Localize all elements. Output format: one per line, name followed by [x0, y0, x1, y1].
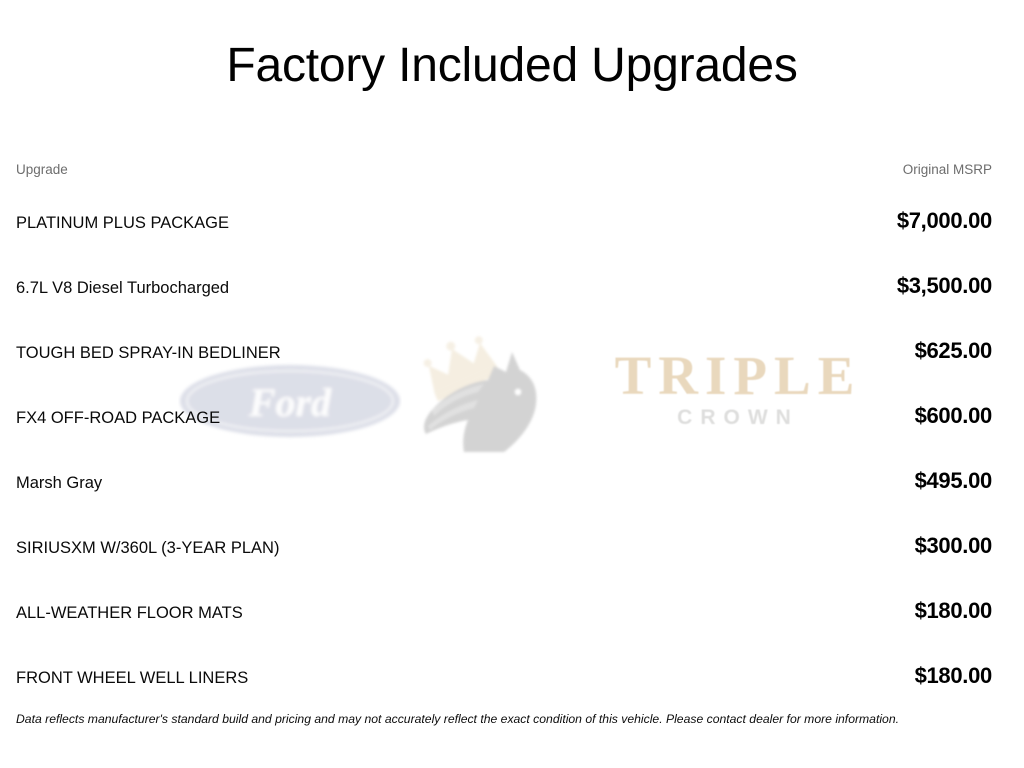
upgrade-price: $3,500.00 — [897, 273, 992, 299]
upgrades-page: Ford — [0, 0, 1024, 768]
table-row: ALL-WEATHER FLOOR MATS $180.00 — [0, 598, 1024, 624]
table-row: 6.7L V8 Diesel Turbocharged $3,500.00 — [0, 273, 1024, 299]
upgrade-price: $625.00 — [915, 338, 992, 364]
upgrade-price: $600.00 — [915, 403, 992, 429]
upgrade-price: $495.00 — [915, 468, 992, 494]
content-layer: Factory Included Upgrades Upgrade Origin… — [0, 0, 1024, 768]
upgrade-price: $300.00 — [915, 533, 992, 559]
column-header-upgrade: Upgrade — [16, 162, 68, 177]
upgrade-name: FRONT WHEEL WELL LINERS — [16, 669, 248, 688]
upgrade-name: ALL-WEATHER FLOOR MATS — [16, 604, 243, 623]
upgrade-name: FX4 OFF-ROAD PACKAGE — [16, 409, 220, 428]
table-header-row: Upgrade Original MSRP — [0, 162, 1024, 177]
upgrade-name: PLATINUM PLUS PACKAGE — [16, 214, 229, 233]
upgrade-price: $180.00 — [915, 598, 992, 624]
upgrade-price: $7,000.00 — [897, 208, 992, 234]
table-row: Marsh Gray $495.00 — [0, 468, 1024, 494]
upgrade-name: SIRIUSXM W/360L (3-YEAR PLAN) — [16, 539, 279, 558]
upgrade-name: Marsh Gray — [16, 474, 102, 493]
column-header-msrp: Original MSRP — [903, 162, 992, 177]
table-row: SIRIUSXM W/360L (3-YEAR PLAN) $300.00 — [0, 533, 1024, 559]
table-row: FRONT WHEEL WELL LINERS $180.00 — [0, 663, 1024, 689]
page-title: Factory Included Upgrades — [0, 38, 1024, 93]
upgrade-name: 6.7L V8 Diesel Turbocharged — [16, 279, 229, 298]
upgrade-price: $180.00 — [915, 663, 992, 689]
table-row: FX4 OFF-ROAD PACKAGE $600.00 — [0, 403, 1024, 429]
table-row: TOUGH BED SPRAY-IN BEDLINER $625.00 — [0, 338, 1024, 364]
upgrade-name: TOUGH BED SPRAY-IN BEDLINER — [16, 344, 281, 363]
disclaimer-text: Data reflects manufacturer's standard bu… — [16, 712, 1008, 726]
table-row: PLATINUM PLUS PACKAGE $7,000.00 — [0, 208, 1024, 234]
